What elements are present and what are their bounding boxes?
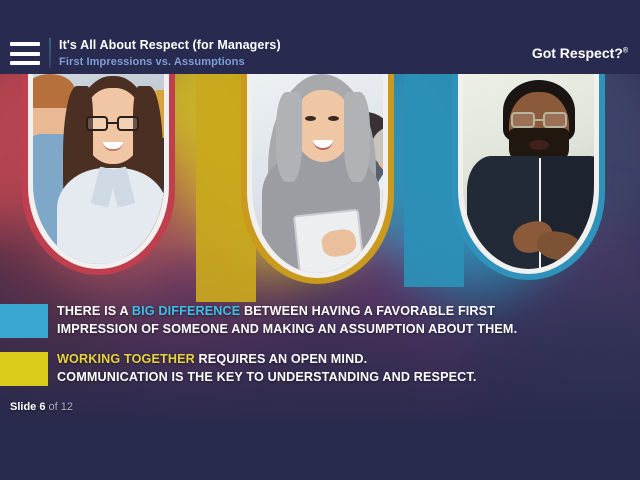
header-title-group: It's All About Respect (for Managers) Fi…: [59, 38, 281, 69]
brand-logo: Got Respect?®: [532, 45, 628, 61]
message-item: THERE IS A BIG DIFFERENCE BETWEEN HAVING…: [0, 303, 640, 338]
message-text: THERE IS A BIG DIFFERENCE BETWEEN HAVING…: [57, 303, 517, 338]
lesson-subtitle: First Impressions vs. Assumptions: [59, 55, 281, 69]
message-line1-post: BETWEEN HAVING A FAVORABLE FIRST: [240, 304, 495, 318]
photo-man-in-suit: [452, 72, 605, 280]
message-line1-pre: THERE IS A: [57, 304, 132, 318]
registered-mark: ®: [623, 47, 628, 54]
message-line1-post: REQUIRES AN OPEN MIND.: [195, 352, 367, 366]
slide-header-bar: It's All About Respect (for Managers) Fi…: [0, 0, 640, 74]
course-title: It's All About Respect (for Managers): [59, 38, 281, 53]
message-list: THERE IS A BIG DIFFERENCE BETWEEN HAVING…: [0, 303, 640, 399]
cyan-swatch: [0, 304, 48, 338]
message-text: WORKING TOGETHER REQUIRES AN OPEN MIND. …: [57, 351, 477, 386]
message-line2: IMPRESSION OF SOMEONE AND MAKING AN ASSU…: [57, 322, 517, 336]
photo-woman-with-glasses: [22, 72, 175, 275]
message-highlight: BIG DIFFERENCE: [132, 304, 240, 318]
gold-swatch: [0, 352, 48, 386]
presentation-slide: It's All About Respect (for Managers) Fi…: [0, 0, 640, 480]
slide-current: Slide 6: [10, 401, 45, 413]
brand-text: Got Respect?: [532, 45, 623, 61]
message-line2: COMMUNICATION IS THE KEY TO UNDERSTANDIN…: [57, 370, 477, 384]
photo-woman-in-hijab: [241, 72, 394, 284]
slide-counter: Slide 6 of 12: [10, 401, 73, 413]
slide-total: of 12: [45, 401, 73, 413]
message-item: WORKING TOGETHER REQUIRES AN OPEN MIND. …: [0, 351, 640, 386]
header-divider: [49, 38, 51, 68]
message-highlight: WORKING TOGETHER: [57, 352, 195, 366]
hamburger-menu-icon[interactable]: [10, 42, 40, 65]
